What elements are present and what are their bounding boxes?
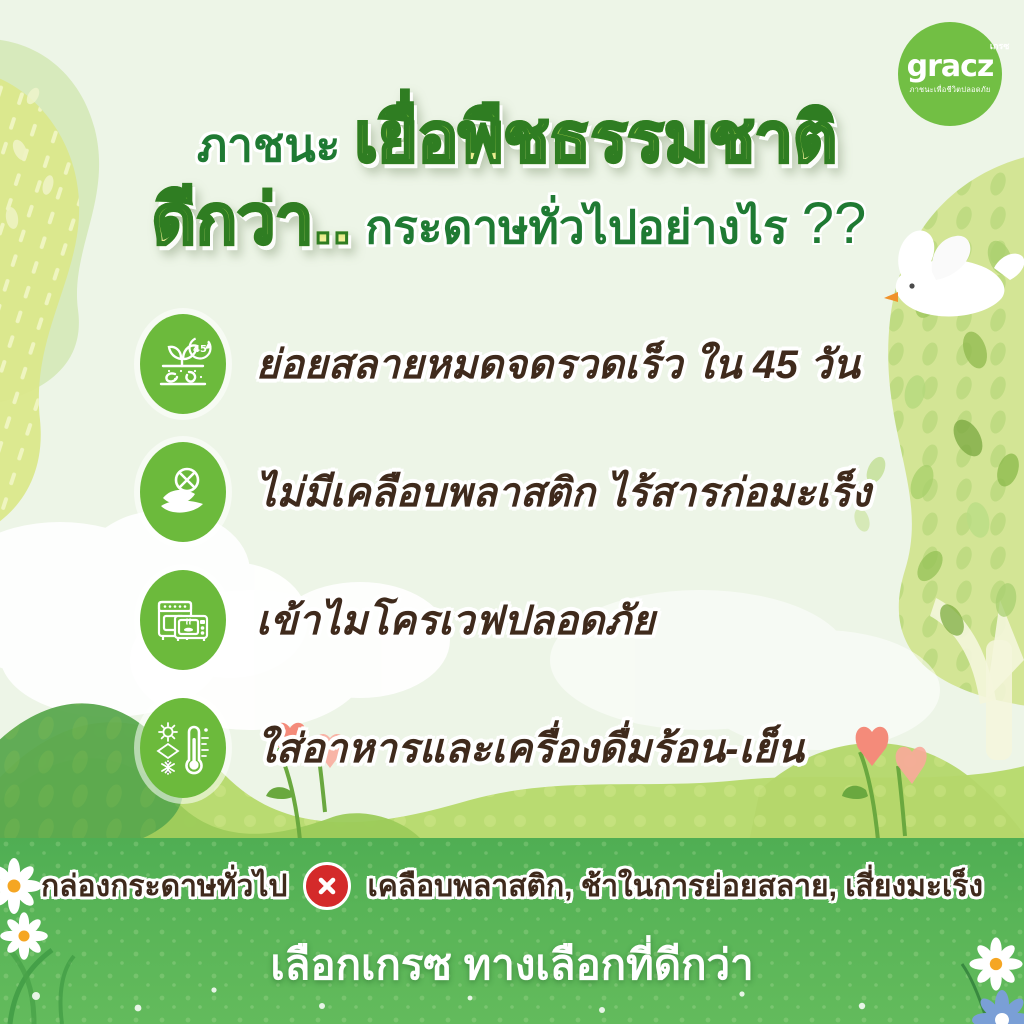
feature-text: ใส่อาหารและเครื่องดื่มร้อน-เย็น — [256, 716, 804, 780]
headline-line1-plain: ภาชนะ — [197, 109, 341, 182]
banner-drawbacks: เคลือบพลาสติก, ช้าในการย่อยสลาย, เสี่ยงม… — [367, 863, 983, 910]
feature-row: ใส่อาหารและเครื่องดื่มร้อน-เย็น — [0, 684, 1024, 812]
feature-text: เข้าไมโครเวฟปลอดภัย — [256, 588, 655, 652]
feature-text: ไม่มีเคลือบพลาสติก ไร้สารก่อมะเร็ง — [256, 460, 871, 524]
infographic-poster: gracz เกรซ ภาชนะเพื่อชีวิตปลอดภัย ภาชนะ … — [0, 0, 1024, 1024]
bottom-banner: กล่องกระดาษทั่วไป เคลือบพลาสติก, ช้าในกา… — [0, 838, 1024, 1024]
badge-number: 45 — [193, 344, 207, 355]
logo-tagline: ภาชนะเพื่อชีวิตปลอดภัย — [909, 84, 990, 96]
feature-list: 45 ย่อยสลายหมดจดรวดเร็ว ใน 45 วัน ไม่มีเ… — [0, 300, 1024, 812]
hot-cold-thermometer-icon — [140, 698, 226, 798]
brand-logo[interactable]: gracz เกรซ ภาชนะเพื่อชีวิตปลอดภัย — [898, 22, 1002, 126]
logo-wordmark: gracz เกรซ — [907, 52, 994, 82]
banner-slogan: เลือกเกรซ ทางเลือกที่ดีกว่า — [0, 932, 1024, 998]
feature-row: เข้าไมโครเวฟปลอดภัย — [0, 556, 1024, 684]
microwave-oven-safe-icon — [140, 570, 226, 670]
headline-block: ภาชนะ เยื่อพืชธรรมชาติ ดีกว่า.. กระดาษทั… — [0, 104, 1024, 264]
headline-line1-highlight: เยื่อพืชธรรมชาติ — [354, 104, 837, 172]
headline-line2-plain: กระดาษทั่วไปอย่างไร — [365, 191, 788, 264]
headline-question-marks: ?? — [802, 190, 867, 257]
headline-line2-highlight: ดีกว่า.. — [152, 186, 351, 254]
banner-comparison-line: กล่องกระดาษทั่วไป เคลือบพลาสติก, ช้าในกา… — [0, 862, 1024, 910]
no-plastic-coating-icon — [140, 442, 226, 542]
banner-compare-label: กล่องกระดาษทั่วไป — [41, 863, 287, 910]
headline-line-2: ดีกว่า.. กระดาษทั่วไปอย่างไร ?? — [20, 186, 998, 264]
feature-row: ไม่มีเคลือบพลาสติก ไร้สารก่อมะเร็ง — [0, 428, 1024, 556]
sprout-soil-45days-icon: 45 — [140, 314, 226, 414]
feature-row: 45 ย่อยสลายหมดจดรวดเร็ว ใน 45 วัน — [0, 300, 1024, 428]
feature-text: ย่อยสลายหมดจดรวดเร็ว ใน 45 วัน — [256, 332, 860, 396]
red-cross-circle-icon — [303, 862, 351, 910]
headline-line-1: ภาชนะ เยื่อพืชธรรมชาติ — [36, 104, 998, 182]
logo-superscript: เกรซ — [990, 43, 1009, 52]
